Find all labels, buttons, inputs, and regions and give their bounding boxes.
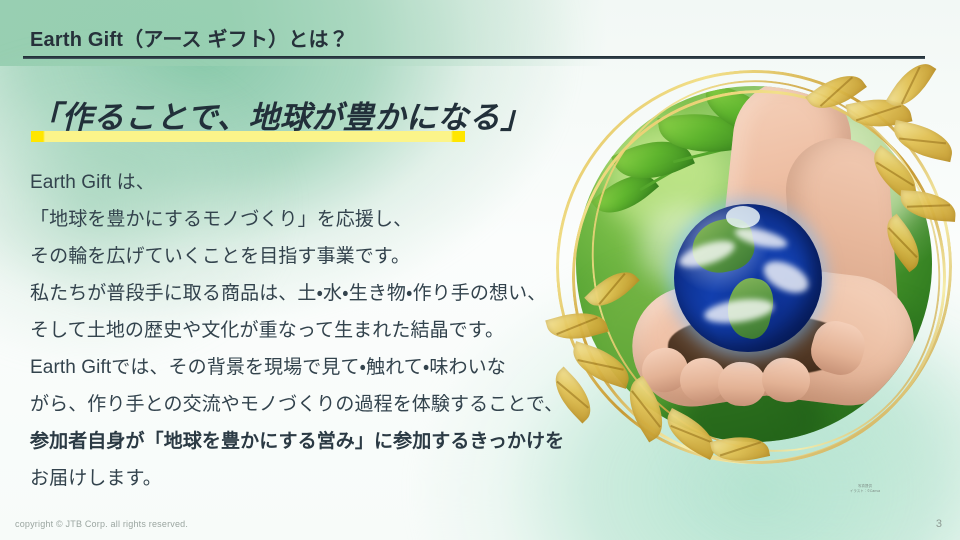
body-line: お届けします。 bbox=[30, 460, 550, 497]
photo-credit-line: イラスト：©Canva bbox=[835, 489, 895, 494]
body-paragraph: Earth Gift は、 「地球を豊かにするモノづくり」を応援し、 その輪を広… bbox=[30, 164, 550, 497]
copyright-notice: copyright © JTB Corp. all rights reserve… bbox=[15, 519, 188, 529]
page-title: Earth Gift（アース ギフト）とは？ bbox=[30, 23, 349, 52]
body-line: 「地球を豊かにするモノづくり」を応援し、 bbox=[30, 201, 550, 238]
header-divider-rule bbox=[23, 56, 925, 59]
body-line: がら、作り手との交流やモノづくりの過程を体験することで、 bbox=[30, 386, 550, 423]
body-line: Earth Gift は、 bbox=[30, 164, 550, 201]
slide-root: Earth Gift（アース ギフト）とは？ 「作ることで、地球が豊かになる」 … bbox=[0, 0, 960, 540]
body-line-emphasis: 参加者自身が「地球を豊かにする営み」に参加するきっかけを bbox=[30, 423, 550, 460]
body-line: Earth Giftでは、その背景を現場で見て・触れて・味わいな bbox=[30, 349, 550, 386]
headline-group: 「作ることで、地球が豊かになる」 bbox=[30, 92, 532, 137]
body-line: そして土地の歴史や文化が重なって生まれた結晶です。 bbox=[30, 312, 550, 349]
hands-holding-earth-globe-photo: 写真提供 イラスト：©Canva bbox=[540, 64, 960, 496]
body-line: 私たちが普段手に取る商品は、土・水・生き物・作り手の想い、 bbox=[30, 275, 550, 312]
headline-text: 「作ることで、地球が豊かになる」 bbox=[30, 92, 532, 137]
body-line: その輪を広げていくことを目指す事業です。 bbox=[30, 238, 550, 275]
photo-credit: 写真提供 イラスト：©Canva bbox=[835, 484, 895, 494]
page-number: 3 bbox=[936, 518, 942, 530]
